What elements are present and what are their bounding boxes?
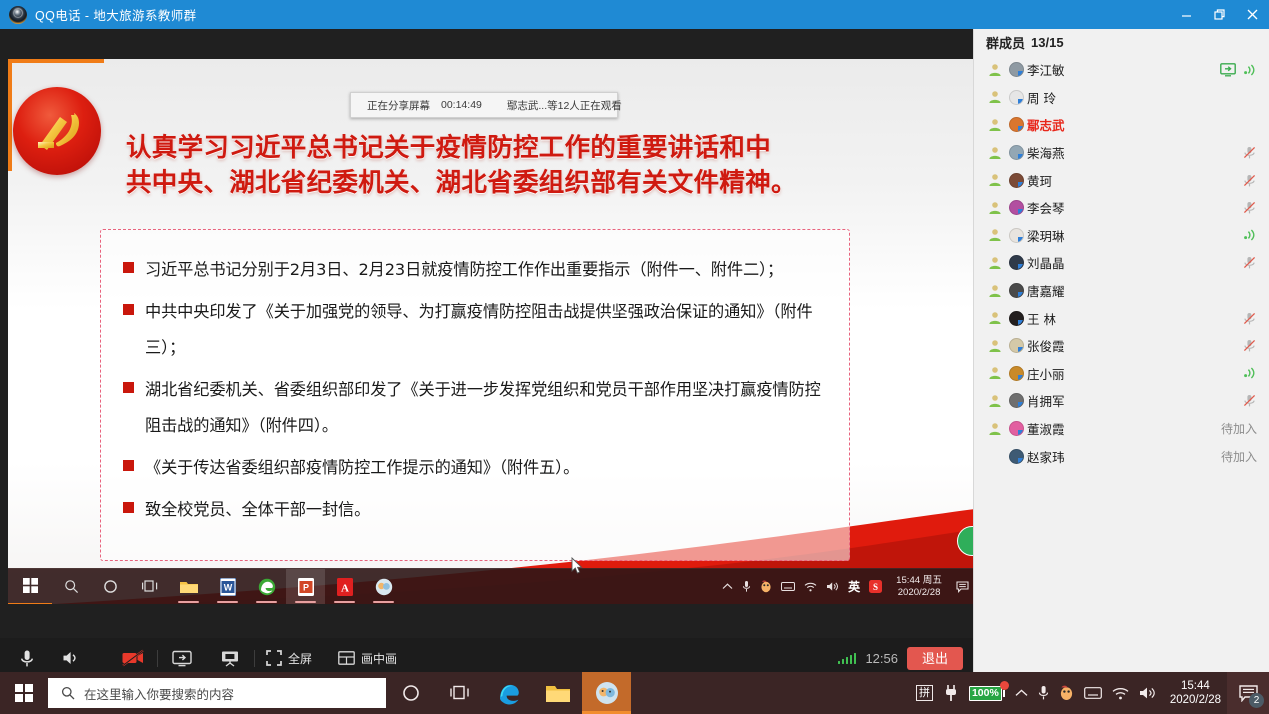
- avatar: [1009, 62, 1024, 77]
- avatar: [1009, 283, 1024, 298]
- qq-call-window: QQ电话 - 地大旅游系教师群: [0, 0, 1269, 714]
- action-center-icon[interactable]: [956, 581, 969, 593]
- member-name: 董淑霞: [1027, 419, 1065, 438]
- microphone-icon[interactable]: [1038, 685, 1049, 701]
- screen-share-notice: 正在分享屏幕 00:14:49 鄢志武...等12人正在观看: [350, 92, 618, 118]
- member-name: 李江敏: [1027, 60, 1065, 79]
- taskbar-clock[interactable]: 15:44 2020/2/28: [1166, 679, 1225, 707]
- member-list-item[interactable]: 肖拥军: [974, 387, 1269, 415]
- file-explorer-icon[interactable]: [533, 672, 582, 714]
- wifi-icon[interactable]: [804, 582, 817, 592]
- member-list-item[interactable]: 梁玥琳: [974, 222, 1269, 250]
- battery-alert-dot: [1000, 681, 1009, 690]
- member-list-item[interactable]: 周 玲: [974, 84, 1269, 112]
- member-list-item[interactable]: 刘晶晶: [974, 249, 1269, 277]
- avatar: [1009, 173, 1024, 188]
- slide-bullet-list: 习近平总书记分别于2月3日、2月23日就疫情防控工作作出重要指示（附件一、附件二…: [123, 252, 835, 534]
- slide-accent-left: [8, 59, 12, 171]
- close-icon[interactable]: [1236, 0, 1269, 29]
- member-list-item[interactable]: 张俊霞: [974, 332, 1269, 360]
- slide-title-line-2: 共中央、湖北省纪委机关、湖北省委组织部有关文件精神。: [126, 166, 866, 201]
- slide-title-line-1: 认真学习习近平总书记关于疫情防控工作的重要讲话和中: [126, 131, 866, 166]
- person-icon: [988, 366, 1003, 380]
- microphone-icon[interactable]: [742, 580, 751, 593]
- share-status-text: 正在分享屏幕: [351, 98, 430, 113]
- member-status: 待加入: [1221, 420, 1257, 437]
- volume-icon[interactable]: [1139, 686, 1156, 700]
- members-header-label: 群成员: [986, 33, 1025, 52]
- clock-date: 2020/2/28: [1170, 693, 1221, 707]
- shared-screen-clock[interactable]: 15:44 周五 2020/2/28: [891, 575, 947, 598]
- speaking-icon[interactable]: [1243, 228, 1257, 242]
- person-icon: [988, 118, 1003, 132]
- clock-date: 2020/2/28: [896, 587, 942, 599]
- share-screen-icon[interactable]: [1220, 63, 1236, 77]
- battery-cap: [1003, 690, 1005, 697]
- person-icon: [988, 256, 1003, 270]
- person-icon: [988, 422, 1003, 436]
- window-title: QQ电话 - 地大旅游系教师群: [35, 5, 197, 24]
- call-duration: 12:56: [865, 651, 898, 666]
- member-name: 李会琴: [1027, 198, 1065, 217]
- bullet-text: 中共中央印发了《关于加强党的领导、为打赢疫情防控阻击战提供坚强政治保证的通知》（…: [145, 294, 835, 366]
- bullet-text: 习近平总书记分别于2月3日、2月23日就疫情防控工作作出重要指示（附件一、附件二…: [145, 252, 783, 288]
- member-status: [1242, 145, 1257, 160]
- member-status: [1242, 311, 1257, 326]
- search-icon[interactable]: [52, 569, 91, 605]
- clock-time: 15:44 周五: [896, 575, 942, 587]
- avatar: [1009, 311, 1024, 326]
- avatar: [1009, 228, 1024, 243]
- avatar: [1009, 449, 1024, 464]
- member-name: 周 玲: [1027, 88, 1056, 107]
- list-item: 习近平总书记分别于2月3日、2月23日就疫情防控工作作出重要指示（附件一、附件二…: [123, 252, 835, 288]
- mic-muted-icon[interactable]: [1242, 255, 1257, 270]
- bullet-square-icon: [123, 382, 134, 393]
- divider: [157, 650, 158, 667]
- bullet-square-icon: [123, 262, 134, 273]
- members-panel-header: 群成员 13/15: [974, 29, 1269, 56]
- member-name: 刘晶晶: [1027, 253, 1065, 272]
- shared-screen-view[interactable]: 认真学习习近平总书记关于疫情防控工作的重要讲话和中 共中央、湖北省纪委机关、湖北…: [8, 59, 973, 604]
- windows-start-icon[interactable]: [8, 569, 52, 605]
- cortana-icon[interactable]: [91, 569, 130, 605]
- divider: [254, 650, 255, 667]
- plug-icon[interactable]: [943, 684, 959, 702]
- keyboard-icon[interactable]: [781, 582, 795, 591]
- avatar: [1009, 255, 1024, 270]
- member-name: 梁玥琳: [1027, 226, 1065, 245]
- list-item: 《关于传达省委组织部疫情防控工作提示的通知》（附件五）。: [123, 450, 835, 486]
- svg-text:P: P: [302, 582, 308, 592]
- avatar: [1009, 117, 1024, 132]
- avatar: [1009, 200, 1024, 215]
- ime-indicator[interactable]: 拼: [916, 685, 933, 701]
- person-icon: [988, 90, 1003, 104]
- action-center-icon[interactable]: 2: [1227, 672, 1269, 714]
- signal-strength-icon: [838, 652, 857, 664]
- edge-icon[interactable]: [484, 672, 533, 714]
- task-view-icon[interactable]: [435, 672, 484, 714]
- member-list-item[interactable]: 黄珂: [974, 166, 1269, 194]
- show-hidden-icons-icon[interactable]: [1015, 689, 1028, 698]
- pending-label: 待加入: [1221, 420, 1257, 437]
- bullet-square-icon: [123, 502, 134, 513]
- volume-icon[interactable]: [826, 581, 839, 592]
- member-list-item[interactable]: 柴海燕: [974, 139, 1269, 167]
- mic-muted-icon[interactable]: [1242, 200, 1257, 215]
- qq-icon[interactable]: [582, 672, 631, 714]
- bullet-text: 《关于传达省委组织部疫情防控工作提示的通知》（附件五）。: [145, 450, 579, 486]
- member-list-item[interactable]: 李江敏: [974, 56, 1269, 84]
- member-name: 肖拥军: [1027, 391, 1065, 410]
- avatar: [1009, 393, 1024, 408]
- svg-text:S: S: [873, 582, 878, 592]
- member-list-item[interactable]: 唐嘉耀: [974, 277, 1269, 305]
- members-header-count: 13/15: [1031, 35, 1064, 50]
- avatar: [1009, 145, 1024, 160]
- mic-muted-icon[interactable]: [1242, 393, 1257, 408]
- powerpoint-icon[interactable]: P: [286, 569, 325, 605]
- member-list-item[interactable]: 庄小丽: [974, 360, 1269, 388]
- notification-badge: 2: [1249, 693, 1264, 708]
- file-explorer-icon[interactable]: [169, 569, 208, 605]
- word-icon[interactable]: W: [208, 569, 247, 605]
- mic-muted-icon[interactable]: [1242, 311, 1257, 326]
- member-status: [1242, 173, 1257, 188]
- member-status: [1242, 393, 1257, 408]
- member-name: 鄢志武: [1027, 115, 1065, 134]
- shared-screen-taskbar: W P A: [8, 568, 973, 604]
- speaking-icon[interactable]: [1243, 63, 1257, 77]
- member-list-item[interactable]: 王 林: [974, 304, 1269, 332]
- battery-indicator[interactable]: 100%: [969, 686, 1005, 701]
- qq-icon[interactable]: [364, 569, 403, 605]
- person-icon: [988, 173, 1003, 187]
- battery-percent: 100%: [969, 686, 1002, 701]
- speaking-icon[interactable]: [1243, 366, 1257, 380]
- person-icon: [988, 339, 1003, 353]
- mic-muted-icon[interactable]: [1242, 338, 1257, 353]
- windows-taskbar: 在这里输入你要搜索的内容 拼 100%: [0, 672, 1269, 714]
- qq-logo-icon: [9, 6, 27, 24]
- person-icon: [988, 394, 1003, 408]
- window-controls: [1170, 0, 1269, 29]
- ccp-party-emblem-icon: [13, 87, 101, 175]
- windows-start-icon[interactable]: [0, 672, 48, 714]
- member-status: 待加入: [1221, 448, 1257, 465]
- qq-tray-icon[interactable]: [760, 580, 772, 593]
- mouse-cursor-icon: [571, 557, 583, 580]
- member-name: 王 林: [1027, 309, 1056, 328]
- title-bar: QQ电话 - 地大旅游系教师群: [0, 0, 1269, 29]
- member-status: [1242, 338, 1257, 353]
- svg-text:W: W: [223, 582, 232, 592]
- member-name: 赵家玮: [1027, 447, 1065, 466]
- restore-icon[interactable]: [1203, 0, 1236, 29]
- exit-call-button[interactable]: 退出: [907, 647, 963, 670]
- member-list-item[interactable]: 董淑霞待加入: [974, 415, 1269, 443]
- search-icon: [61, 686, 75, 700]
- share-watchers-text: 鄢志武...等12人正在观看: [507, 98, 622, 113]
- member-status: [1242, 200, 1257, 215]
- pending-label: 待加入: [1221, 448, 1257, 465]
- person-icon: [988, 63, 1003, 77]
- member-status: [1243, 366, 1257, 380]
- bullet-text: 湖北省纪委机关、省委组织部印发了《关于进一步发挥党组织和党员干部作用坚决打赢疫情…: [145, 372, 835, 444]
- svg-text:A: A: [341, 582, 349, 594]
- qq-tray-icon[interactable]: [1059, 685, 1074, 701]
- member-name: 唐嘉耀: [1027, 281, 1065, 300]
- pip-label: 画中画: [361, 650, 397, 667]
- pdf-icon[interactable]: A: [325, 569, 364, 605]
- search-input[interactable]: 在这里输入你要搜索的内容: [48, 678, 386, 708]
- wifi-icon[interactable]: [1112, 687, 1129, 700]
- person-icon: [988, 146, 1003, 160]
- member-status: [1243, 228, 1257, 242]
- member-name: 黄珂: [1027, 171, 1052, 190]
- avatar: [1009, 90, 1024, 105]
- avatar: [1009, 421, 1024, 436]
- list-item: 湖北省纪委机关、省委组织部印发了《关于进一步发挥党组织和党员干部作用坚决打赢疫情…: [123, 372, 835, 444]
- edge-icon[interactable]: [247, 569, 286, 605]
- member-list-item[interactable]: 鄢志武: [974, 111, 1269, 139]
- member-name: 柴海燕: [1027, 143, 1065, 162]
- call-bar-right: 12:56 退出: [838, 647, 973, 670]
- members-panel: 群成员 13/15 李江敏周 玲鄢志武柴海燕黄珂李会琴梁玥琳刘晶晶唐嘉耀王 林张…: [973, 29, 1269, 714]
- slide-content-box: 习近平总书记分别于2月3日、2月23日就疫情防控工作作出重要指示（附件一、附件二…: [100, 229, 850, 561]
- person-icon: [988, 228, 1003, 242]
- member-status: [1220, 63, 1257, 77]
- slide-title: 认真学习习近平总书记关于疫情防控工作的重要讲话和中 共中央、湖北省纪委机关、湖北…: [126, 131, 866, 201]
- person-icon: [988, 311, 1003, 325]
- member-name: 张俊霞: [1027, 336, 1065, 355]
- mic-muted-icon[interactable]: [1242, 145, 1257, 160]
- task-view-icon[interactable]: [130, 569, 169, 605]
- system-tray: 拼 100%: [916, 672, 1227, 714]
- shared-screen-tray: 英 S 15:44 周五 2020/2/28: [722, 569, 973, 605]
- member-list-item[interactable]: 赵家玮待加入: [974, 442, 1269, 470]
- sogou-input-icon[interactable]: S: [869, 580, 882, 593]
- cortana-icon[interactable]: [386, 672, 435, 714]
- bullet-text: 致全校党员、全体干部一封信。: [145, 492, 370, 528]
- member-name: 庄小丽: [1027, 364, 1065, 383]
- avatar: [1009, 338, 1024, 353]
- minimize-icon[interactable]: [1170, 0, 1203, 29]
- share-elapsed-time: 00:14:49: [430, 99, 482, 111]
- keyboard-icon[interactable]: [1084, 687, 1102, 699]
- person-icon: [988, 201, 1003, 215]
- fullscreen-label: 全屏: [288, 650, 312, 667]
- search-placeholder: 在这里输入你要搜索的内容: [84, 684, 234, 703]
- member-list: 李江敏周 玲鄢志武柴海燕黄珂李会琴梁玥琳刘晶晶唐嘉耀王 林张俊霞庄小丽肖拥军董淑…: [974, 56, 1269, 470]
- show-hidden-icons-icon[interactable]: [722, 583, 733, 591]
- slide-accent-top: [8, 59, 104, 63]
- ime-indicator[interactable]: 英: [848, 581, 860, 593]
- avatar: [1009, 366, 1024, 381]
- clock-time: 15:44: [1170, 679, 1221, 693]
- bullet-square-icon: [123, 460, 134, 471]
- meeting-stage: 认真学习习近平总书记关于疫情防控工作的重要讲话和中 共中央、湖北省纪委机关、湖北…: [0, 29, 973, 638]
- mic-muted-icon[interactable]: [1242, 173, 1257, 188]
- bullet-square-icon: [123, 304, 134, 315]
- member-status: [1242, 255, 1257, 270]
- member-list-item[interactable]: 李会琴: [974, 194, 1269, 222]
- person-icon: [988, 284, 1003, 298]
- list-item: 致全校党员、全体干部一封信。: [123, 492, 835, 528]
- list-item: 中共中央印发了《关于加强党的领导、为打赢疫情防控阻击战提供坚强政治保证的通知》（…: [123, 294, 835, 366]
